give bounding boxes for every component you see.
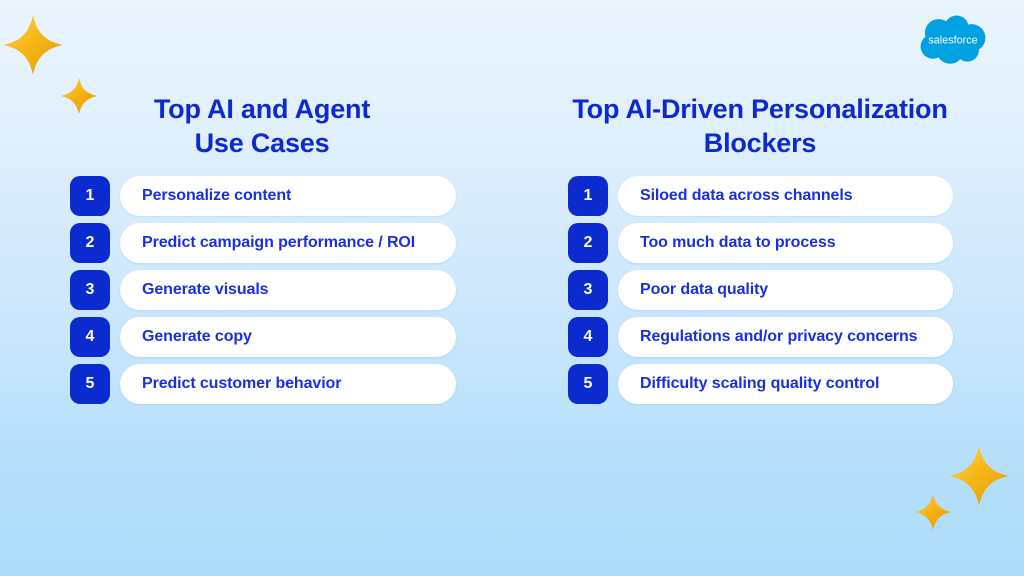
salesforce-cloud-logo: salesforce xyxy=(917,14,989,66)
sparkle-star-bottom-right-large xyxy=(948,443,1010,509)
item-label: Generate copy xyxy=(120,328,266,346)
item-label: Regulations and/or privacy concerns xyxy=(618,328,931,346)
list-item[interactable]: 2 Too much data to process xyxy=(560,223,960,263)
item-label: Siloed data across channels xyxy=(618,187,867,205)
item-pill[interactable]: Generate visuals xyxy=(120,270,456,310)
svg-text:salesforce: salesforce xyxy=(928,35,977,47)
rank-badge: 5 xyxy=(568,364,608,404)
item-pill[interactable]: Siloed data across channels xyxy=(618,176,953,216)
rank-badge: 2 xyxy=(70,223,110,263)
item-label: Generate visuals xyxy=(120,281,282,299)
list-item[interactable]: 5 Difficulty scaling quality control xyxy=(560,364,960,404)
list-item[interactable]: 3 Poor data quality xyxy=(560,270,960,310)
item-pill[interactable]: Difficulty scaling quality control xyxy=(618,364,953,404)
list-item[interactable]: 2 Predict campaign performance / ROI xyxy=(62,223,462,263)
sparkle-star-bottom-right-small xyxy=(914,492,952,532)
column-title-use-cases: Top AI and Agent Use Cases xyxy=(62,92,462,160)
item-pill[interactable]: Regulations and/or privacy concerns xyxy=(618,317,953,357)
rank-badge: 1 xyxy=(70,176,110,216)
ranked-list-use-cases: 1 Personalize content 2 Predict campaign… xyxy=(62,176,462,411)
sparkle-star-top-left-large xyxy=(2,12,64,78)
item-label: Predict campaign performance / ROI xyxy=(120,234,429,252)
rank-badge: 2 xyxy=(568,223,608,263)
rank-badge: 4 xyxy=(70,317,110,357)
slide-canvas: salesforce xyxy=(0,0,1024,576)
item-label: Personalize content xyxy=(120,187,305,205)
list-item[interactable]: 4 Regulations and/or privacy concerns xyxy=(560,317,960,357)
rank-badge: 3 xyxy=(70,270,110,310)
item-label: Predict customer behavior xyxy=(120,375,355,393)
item-pill[interactable]: Predict customer behavior xyxy=(120,364,456,404)
rank-badge: 1 xyxy=(568,176,608,216)
item-pill[interactable]: Generate copy xyxy=(120,317,456,357)
ranked-list-blockers: 1 Siloed data across channels 2 Too much… xyxy=(560,176,960,411)
item-pill[interactable]: Poor data quality xyxy=(618,270,953,310)
list-item[interactable]: 1 Siloed data across channels xyxy=(560,176,960,216)
list-item[interactable]: 5 Predict customer behavior xyxy=(62,364,462,404)
item-pill[interactable]: Predict campaign performance / ROI xyxy=(120,223,456,263)
rank-badge: 4 xyxy=(568,317,608,357)
rank-badge: 5 xyxy=(70,364,110,404)
column-title-blockers: Top AI-Driven Personalization Blockers xyxy=(560,92,960,160)
list-item[interactable]: 4 Generate copy xyxy=(62,317,462,357)
item-pill[interactable]: Personalize content xyxy=(120,176,456,216)
item-label: Poor data quality xyxy=(618,281,782,299)
item-label: Difficulty scaling quality control xyxy=(618,375,893,393)
item-label: Too much data to process xyxy=(618,234,850,252)
list-item[interactable]: 3 Generate visuals xyxy=(62,270,462,310)
list-item[interactable]: 1 Personalize content xyxy=(62,176,462,216)
item-pill[interactable]: Too much data to process xyxy=(618,223,953,263)
rank-badge: 3 xyxy=(568,270,608,310)
